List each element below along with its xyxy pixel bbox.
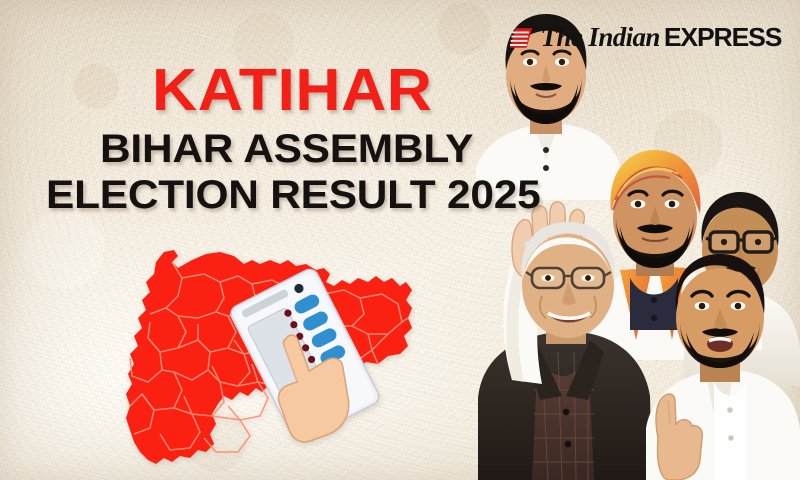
headline-block: KATIHAR BIHAR ASSEMBLY ELECTION RESULT 2…: [46, 62, 512, 218]
poster-canvas: The Indian EXPRESS KATIHAR BIHAR ASSEMBL…: [0, 0, 800, 480]
headline-city: KATIHAR: [152, 62, 534, 119]
masthead-express: EXPRESS: [664, 22, 781, 53]
headline-line3: ELECTION RESULT 2025: [46, 173, 540, 218]
bihar-map-graphic: [120, 238, 420, 480]
masthead-logo[interactable]: The Indian EXPRESS: [508, 22, 780, 53]
indian-express-rhombus-icon: [508, 25, 534, 51]
headline-line2: BIHAR ASSEMBLY: [100, 127, 537, 172]
masthead-wordmark: The Indian EXPRESS: [541, 22, 780, 53]
masthead-the-indian: The Indian: [541, 22, 660, 53]
